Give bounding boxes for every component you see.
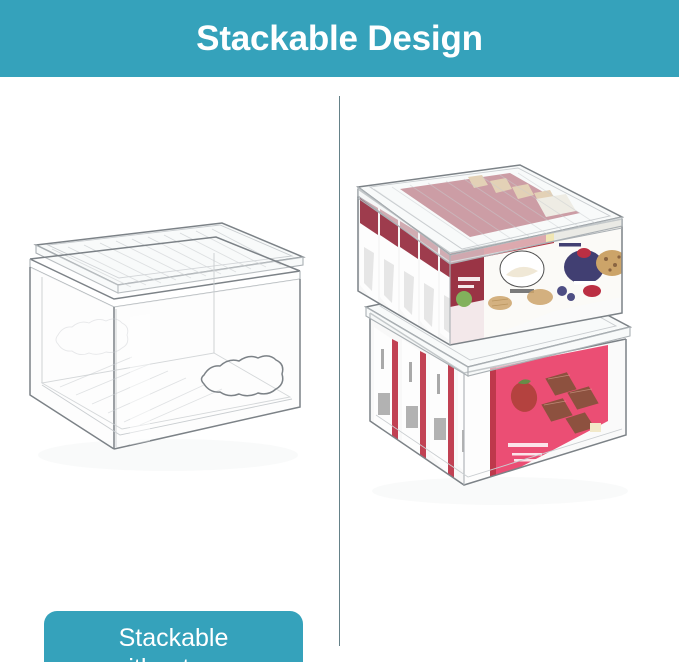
caption-left-text: Stackable without use xyxy=(102,623,244,662)
infographic-page: Stackable Design xyxy=(0,0,679,662)
bin-body xyxy=(30,237,300,449)
page-title: Stackable Design xyxy=(196,21,483,56)
product-image-stacked-bins xyxy=(340,77,679,662)
caption-stackable-without-use: Stackable without use xyxy=(44,611,303,662)
product-image-single-bin xyxy=(0,77,339,662)
header-band: Stackable Design xyxy=(0,0,679,77)
caption-left-line1: Stackable xyxy=(119,624,229,652)
panel-right: Stackable with lids xyxy=(340,77,679,662)
caption-left-line2: without use xyxy=(110,654,236,662)
bin-drop-shadow xyxy=(38,439,298,471)
stack-drop-shadow xyxy=(372,477,628,505)
panel-left: Stackable without use xyxy=(0,77,339,662)
